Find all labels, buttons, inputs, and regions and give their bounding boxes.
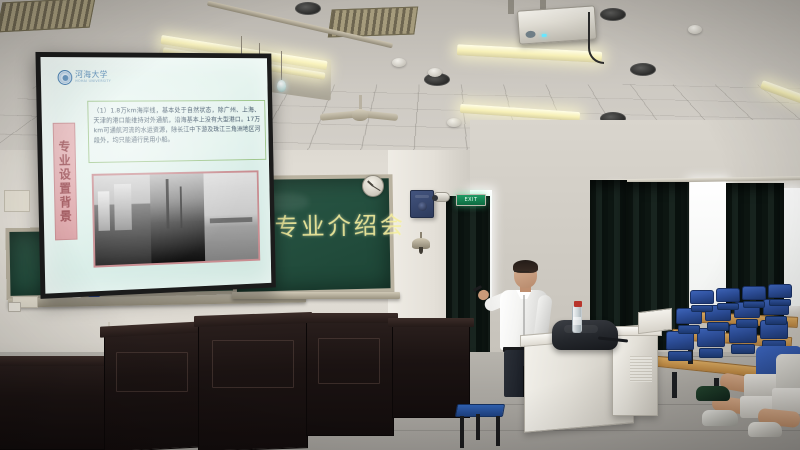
banner-char: 专 — [58, 141, 70, 153]
chair-seat — [707, 322, 730, 331]
slide-body-text: （1）1.8万km海岸线，基本处于自然状态，除广州、上海、天津的港口能维持对外通… — [93, 105, 260, 145]
chair-seat — [736, 319, 759, 328]
chair-seat — [691, 305, 712, 312]
presentation-slide: 河海大学 HOHAI UNIVERSITY 专 业 设 置 背 景 （1）1.8… — [40, 57, 271, 294]
ceiling-air-vent — [0, 0, 95, 32]
teacher-desk — [0, 360, 110, 450]
exit-sign: EXIT — [456, 194, 486, 206]
desk-top — [0, 356, 112, 366]
smoke-detector-icon — [392, 58, 406, 67]
university-name-sub: HOHAI UNIVERSITY — [75, 80, 111, 83]
blue-stool[interactable] — [456, 404, 508, 448]
wall-notice-paper — [4, 190, 30, 212]
ceiling-fan — [320, 95, 400, 125]
ceiling-projector — [517, 5, 597, 44]
seated-student — [762, 372, 800, 442]
chair-back — [742, 286, 766, 300]
banner-char: 业 — [59, 154, 71, 166]
ceiling-speaker-icon — [295, 2, 321, 15]
lecture-chair[interactable] — [690, 290, 714, 312]
wall-outlet — [8, 302, 21, 312]
slide-side-banner: 专 业 设 置 背 景 — [53, 123, 78, 241]
presenter-glasses — [514, 271, 529, 275]
stool-leg — [460, 416, 464, 448]
chair-seat — [743, 301, 764, 308]
chair-back — [690, 290, 714, 304]
slide-photo-1 — [94, 175, 152, 266]
wall-clock — [362, 175, 384, 197]
slide-photo-strip — [92, 170, 261, 267]
chair-seat — [769, 299, 790, 306]
chair-back — [768, 284, 792, 298]
chalk-tray — [232, 292, 400, 299]
lecture-chair[interactable] — [742, 286, 766, 308]
desk-leg — [672, 372, 677, 398]
desk-panel — [116, 352, 188, 392]
banner-char: 置 — [59, 182, 71, 194]
fan-hub — [352, 109, 368, 121]
bottle-label — [573, 317, 581, 325]
banner-char: 景 — [60, 210, 72, 222]
laptop[interactable] — [638, 308, 672, 334]
desk-top — [302, 313, 398, 323]
slide-text-box: （1）1.8万km海岸线，基本处于自然状态，除广州、上海、天津的港口能维持对外通… — [87, 100, 266, 163]
university-logo: 河海大学 HOHAI UNIVERSITY — [57, 70, 111, 85]
slide-photo-2 — [149, 173, 205, 263]
lecture-chair[interactable] — [666, 331, 694, 361]
ceiling-speaker-icon — [630, 63, 656, 76]
wall-lamp — [412, 232, 430, 254]
student-shoe — [702, 410, 738, 426]
bottle-cap — [574, 301, 582, 307]
banner-char: 设 — [59, 168, 71, 180]
security-camera-icon — [434, 192, 450, 202]
university-name: 河海大学 — [75, 70, 108, 79]
projection-screen[interactable]: 河海大学 HOHAI UNIVERSITY 专 业 设 置 背 景 （1）1.8… — [35, 52, 275, 299]
student-shoe — [748, 422, 782, 437]
projector-mount — [508, 0, 514, 14]
pendant-wire — [281, 51, 282, 81]
smoke-detector-icon — [428, 68, 442, 77]
lecture-chair[interactable] — [768, 284, 792, 306]
slide-photo-3 — [204, 172, 259, 261]
lecture-hall-photo: 生专业介绍会 河海大学 HOHAI UNIVERSITY 专 业 设 置 背 景 — [0, 0, 800, 450]
banner-char: 背 — [60, 196, 72, 208]
lecture-chair[interactable] — [716, 288, 740, 310]
student-shoe — [696, 386, 730, 401]
desk-panel — [318, 338, 380, 384]
smoke-detector-icon — [447, 118, 461, 127]
clock-minute-hand — [373, 185, 381, 191]
projector-lens-icon — [525, 31, 535, 39]
smoke-detector-icon — [688, 25, 702, 34]
university-emblem-icon — [57, 70, 72, 85]
university-name-block: 河海大学 HOHAI UNIVERSITY — [75, 71, 111, 83]
chair-seat — [765, 316, 788, 325]
chair-seat — [678, 325, 701, 334]
chair-seat — [717, 303, 738, 310]
water-bottle — [572, 305, 582, 333]
chair-seat — [668, 351, 693, 361]
projector-status-led — [542, 34, 547, 37]
chair-back — [716, 288, 740, 302]
projector-cable — [588, 12, 604, 64]
exit-sign-label: EXIT — [464, 197, 477, 203]
wall-speaker — [410, 190, 434, 218]
lectern-vent — [630, 356, 652, 382]
backpack — [552, 320, 618, 350]
desk-top — [388, 318, 474, 327]
stool-leg — [496, 416, 500, 446]
pendant-bulb-icon — [277, 80, 286, 92]
stool-leg — [476, 414, 480, 440]
desk-panel — [212, 340, 294, 388]
lamp-bulb — [419, 247, 423, 254]
